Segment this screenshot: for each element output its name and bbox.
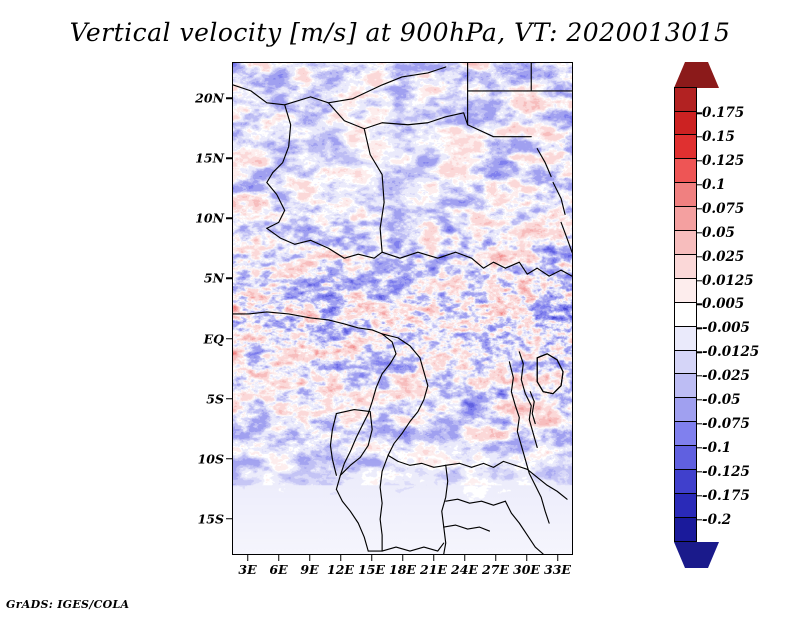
longitude-tick-label: 9E [300,562,318,577]
colorbar-tick-label: 0.0125 [702,273,754,289]
latitude-tick-mark [226,338,232,340]
latitude-tick-mark [226,97,232,99]
colorbar-tick-mark [697,208,702,209]
colorbar-tick-label: -0.05 [702,392,740,408]
longitude-tick-label: 33E [544,562,571,577]
colorbar-tick-mark [697,471,702,472]
colorbar-segment [674,278,697,303]
colorbar-segment [674,254,697,279]
longitude-tick-label: 27E [482,562,509,577]
latitude-tick-mark [226,157,232,159]
longitude-tick-label: 6E [269,562,287,577]
colorbar-tick-mark [697,184,702,185]
colorbar-segment [674,493,697,518]
latitude-tick-mark [226,218,232,220]
colorbar-tick-label: 0.005 [702,296,744,312]
colorbar-segment [674,87,697,112]
colorbar-segment [674,230,697,255]
colorbar-tick-mark [697,232,702,233]
page-title: Vertical velocity [m/s] at 900hPa, VT: 2… [0,18,800,47]
colorbar-tick-label: -0.075 [702,416,750,432]
latitude-tick-label: 20N [186,91,224,106]
colorbar-tick-mark [697,447,702,448]
colorbar-segment [674,182,697,207]
latitude-tick-label: 5S [186,391,224,406]
colorbar[interactable] [674,62,697,568]
colorbar-tick-label: -0.175 [702,488,750,504]
longitude-tick-mark [557,555,559,561]
latitude-tick-mark [226,518,232,520]
colorbar-tick-label: -0.2 [702,512,731,528]
latitude-tick-label: 15S [186,511,224,526]
colorbar-tick-label: 0.075 [702,201,744,217]
longitude-tick-label: 12E [327,562,354,577]
colorbar-segment [674,517,697,542]
colorbar-tick-label: 0.025 [702,249,744,265]
colorbar-segment [674,302,697,327]
colorbar-tick-mark [697,423,702,424]
longitude-tick-mark [278,555,280,561]
colorbar-tick-mark [697,112,702,113]
longitude-tick-mark [526,555,528,561]
grads-plot-window: Vertical velocity [m/s] at 900hPa, VT: 2… [0,0,800,618]
colorbar-segment [674,421,697,446]
colorbar-tick-mark [697,280,702,281]
colorbar-segment [674,158,697,183]
longitude-tick-mark [340,555,342,561]
colorbar-segment [674,469,697,494]
longitude-tick-label: 3E [238,562,256,577]
colorbar-tick-label: -0.005 [702,320,750,336]
colorbar-tick-label: -0.1 [702,440,731,456]
colorbar-tick-mark [697,519,702,520]
grads-attribution: GrADS: IGES/COLA [6,598,129,611]
latitude-tick-label: 10S [186,451,224,466]
colorbar-tick-label: 0.05 [702,225,735,241]
colorbar-tick-label: 0.1 [702,177,726,193]
colorbar-segment [674,206,697,231]
colorbar-tick-mark [697,328,702,329]
latitude-tick-label: 15N [186,151,224,166]
colorbar-tick-label: -0.025 [702,368,750,384]
colorbar-tick-label: -0.0125 [702,344,759,360]
colorbar-segment [674,111,697,136]
map-plot-area [232,62,573,555]
longitude-tick-label: 21E [420,562,447,577]
colorbar-tick-mark [697,351,702,352]
colorbar-tick-mark [697,136,702,137]
colorbar-tick-label: -0.125 [702,464,750,480]
latitude-tick-mark [226,398,232,400]
longitude-tick-mark [433,555,435,561]
colorbar-tick-label: 0.175 [702,105,744,121]
colorbar-tick-mark [697,399,702,400]
latitude-tick-label: 10N [186,211,224,226]
latitude-tick-label: EQ [186,331,224,346]
longitude-tick-mark [464,555,466,561]
longitude-tick-mark [371,555,373,561]
longitude-tick-mark [247,555,249,561]
colorbar-tick-label: 0.15 [702,129,735,145]
colorbar-segment [674,350,697,375]
colorbar-tick-mark [697,256,702,257]
longitude-tick-mark [495,555,497,561]
colorbar-segment [674,134,697,159]
longitude-tick-label: 24E [451,562,478,577]
colorbar-tick-mark [697,160,702,161]
longitude-tick-label: 15E [358,562,385,577]
longitude-tick-mark [402,555,404,561]
longitude-tick-label: 30E [513,562,540,577]
colorbar-segment [674,326,697,351]
colorbar-segment [674,373,697,398]
longitude-tick-mark [309,555,311,561]
colorbar-tick-label: 0.125 [702,153,744,169]
colorbar-min-arrow [674,542,719,568]
colorbar-max-arrow [674,62,719,88]
colorbar-segment [674,445,697,470]
latitude-tick-mark [226,278,232,280]
colorbar-tick-mark [697,375,702,376]
longitude-tick-label: 18E [389,562,416,577]
colorbar-segment [674,397,697,422]
country-borders-overlay [233,63,572,554]
colorbar-tick-mark [697,495,702,496]
latitude-tick-label: 5N [186,271,224,286]
latitude-tick-mark [226,458,232,460]
colorbar-tick-mark [697,304,702,305]
